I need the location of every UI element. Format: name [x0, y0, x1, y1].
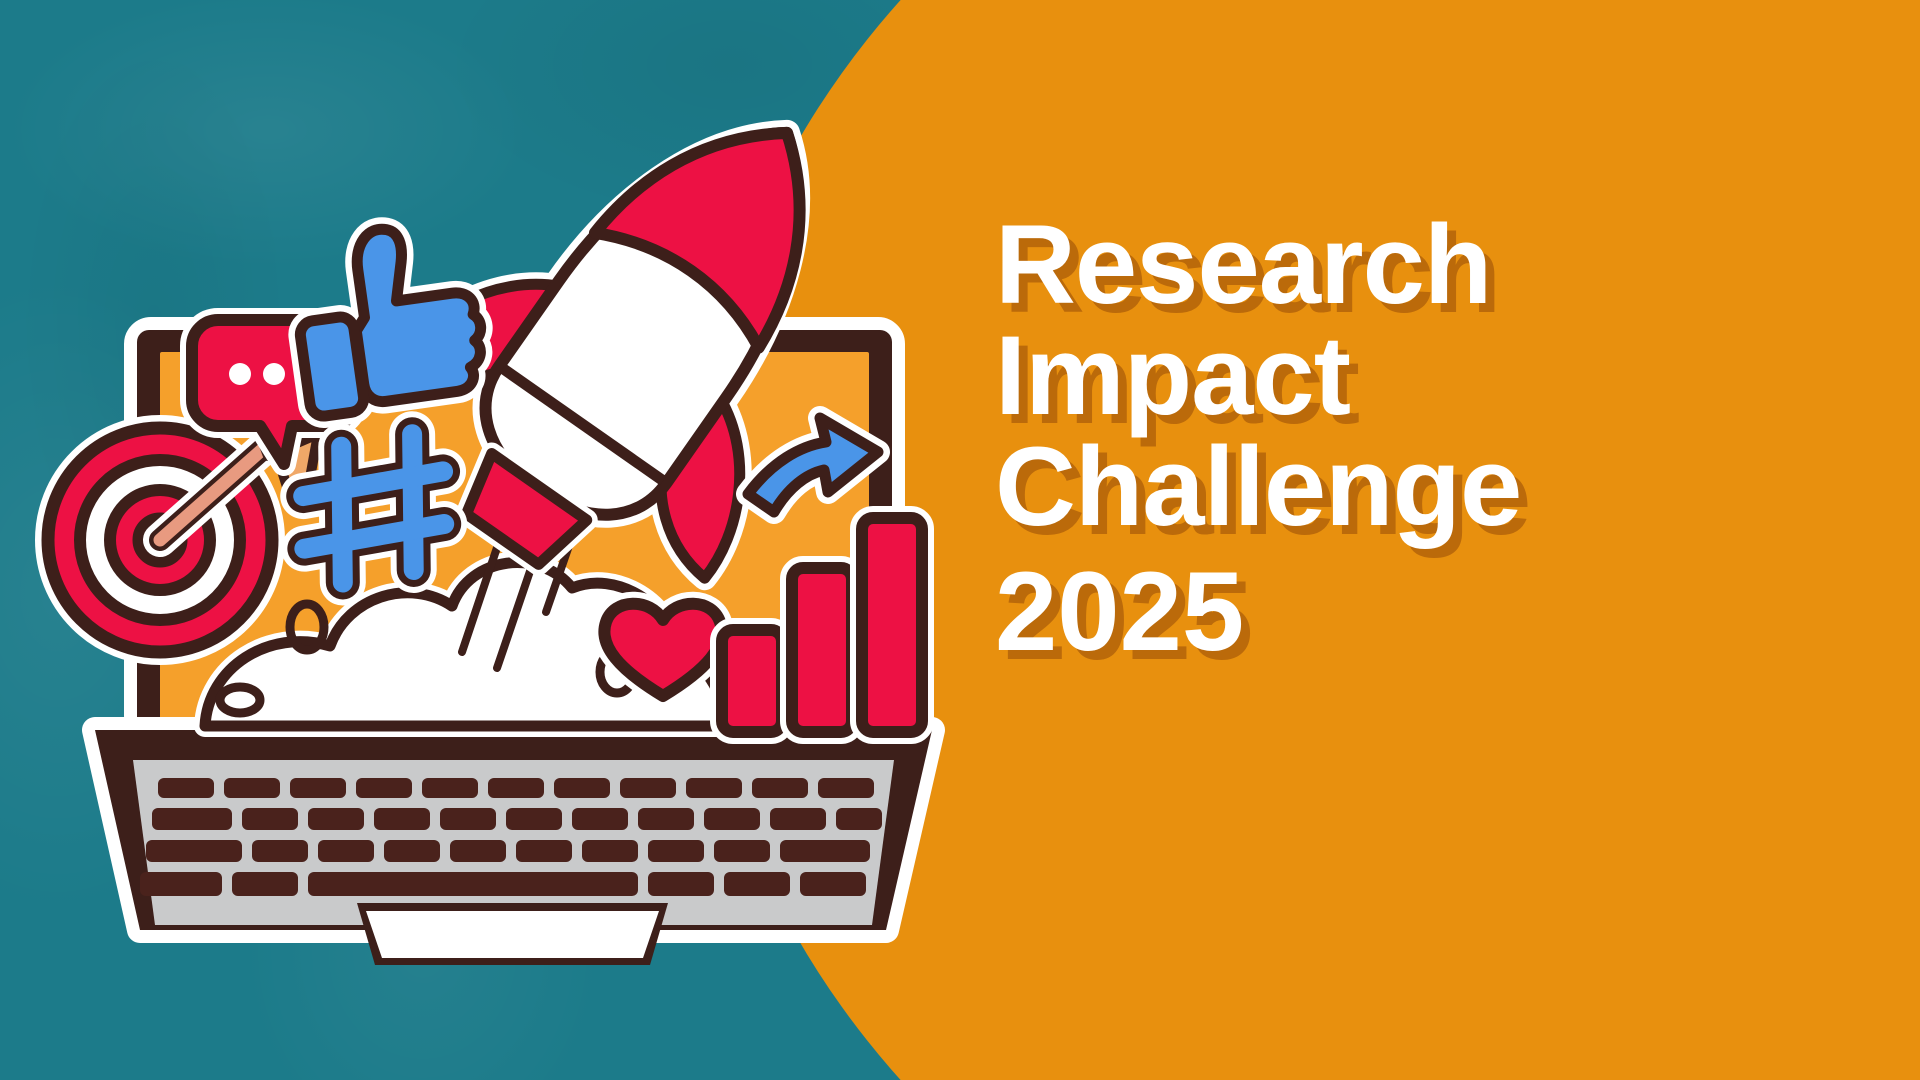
title-line-impact: Impact: [995, 321, 1835, 432]
laptop-rocket-illustration: [0, 0, 960, 1080]
keyboard-row: [140, 872, 866, 896]
space-key: [308, 872, 638, 896]
poster-title: Research Impact Challenge 2025: [995, 210, 1835, 668]
title-line-year: 2025: [995, 557, 1835, 668]
title-line-challenge: Challenge: [995, 432, 1835, 543]
laptop-trackpad: [357, 903, 668, 965]
title-line-research: Research: [995, 210, 1835, 321]
keyboard-row: [152, 808, 882, 830]
keyboard-row: [158, 778, 874, 798]
bar-chart-bar: [792, 568, 852, 732]
thumbs-up-icon: [287, 217, 490, 418]
bar-chart-bar: [722, 630, 782, 732]
bar-chart-bar: [862, 518, 922, 732]
poster-canvas: Research Impact Challenge 2025: [0, 0, 1920, 1080]
